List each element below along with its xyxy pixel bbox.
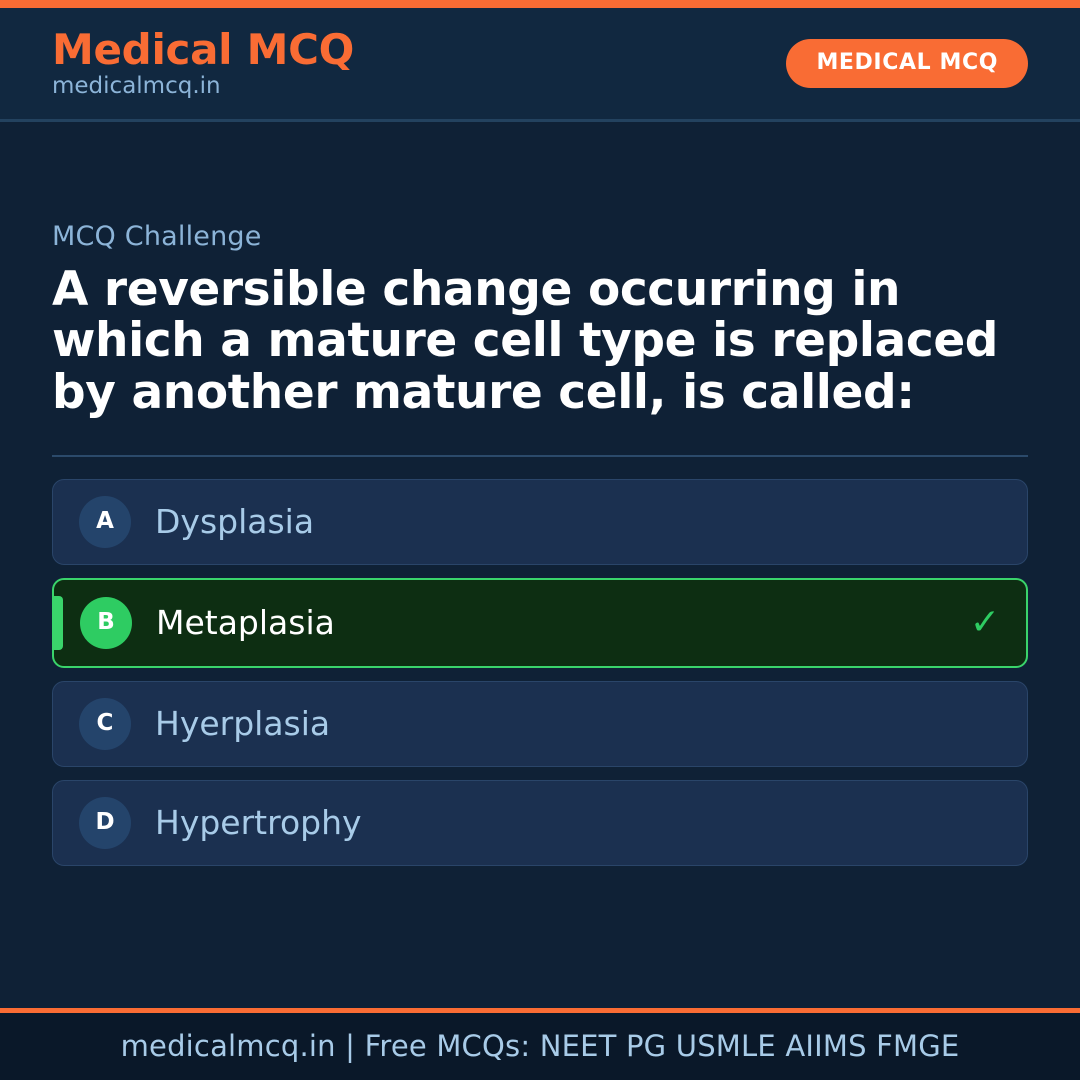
check-icon: ✓ [970,605,1000,641]
page-header: Medical MCQ medicalmcq.in MEDICAL MCQ [0,8,1080,122]
option-accent-bar [54,596,63,650]
option-label: Hypertrophy [155,805,985,841]
option-b[interactable]: B Metaplasia ✓ [52,578,1028,668]
mcq-card: Medical MCQ medicalmcq.in MEDICAL MCQ MC… [0,0,1080,1080]
option-letter-badge: B [80,597,132,649]
main-content: MCQ Challenge A reversible change occurr… [0,122,1080,1008]
option-d[interactable]: D Hypertrophy [52,780,1028,866]
brand: Medical MCQ medicalmcq.in [52,28,354,99]
top-accent-bar [0,0,1080,8]
options-list: A Dysplasia B Metaplasia ✓ C Hyerplasia … [52,479,1028,866]
brand-title: Medical MCQ [52,28,354,72]
option-label: Metaplasia [156,605,954,641]
option-c[interactable]: C Hyerplasia [52,681,1028,767]
option-a[interactable]: A Dysplasia [52,479,1028,565]
option-label: Hyerplasia [155,706,985,742]
question-text: A reversible change occurring in which a… [52,264,1012,419]
option-letter-badge: C [79,698,131,750]
section-divider [52,455,1028,457]
page-footer: medicalmcq.in | Free MCQs: NEET PG USMLE… [0,1008,1080,1080]
header-badge: MEDICAL MCQ [786,39,1028,88]
kicker-label: MCQ Challenge [52,222,1028,252]
brand-subtitle: medicalmcq.in [52,74,354,99]
option-label: Dysplasia [155,504,985,540]
option-letter-badge: A [79,496,131,548]
footer-text: medicalmcq.in | Free MCQs: NEET PG USMLE… [121,1032,960,1061]
option-letter-badge: D [79,797,131,849]
